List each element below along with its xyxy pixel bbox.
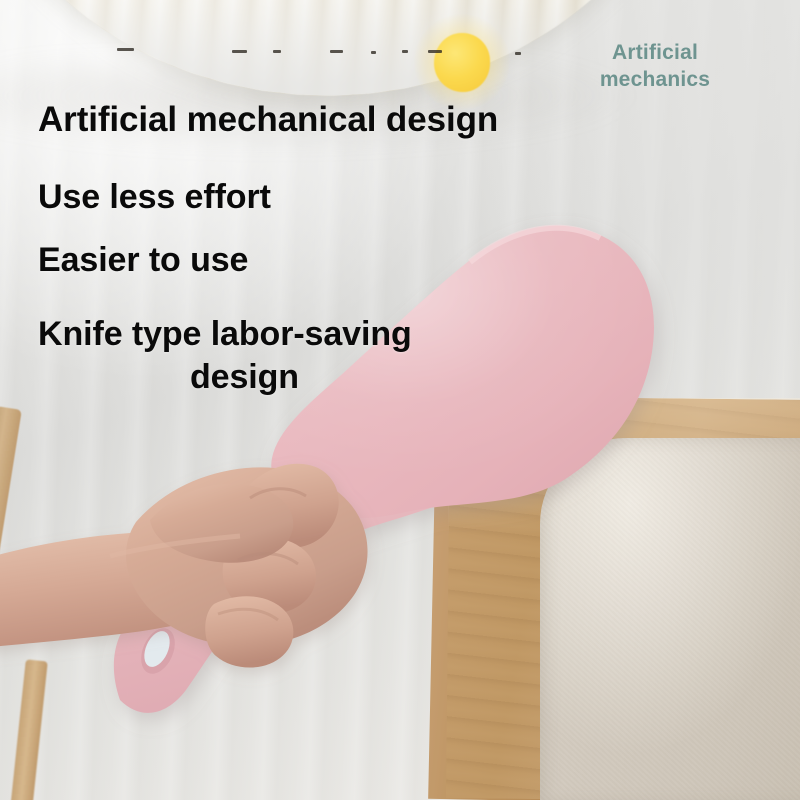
product-image-canvas: Artificial mechanical design Use less ef… — [0, 0, 800, 800]
tick-mark-1 — [117, 48, 134, 51]
tick-mark-8 — [515, 52, 521, 55]
tick-mark-3 — [273, 50, 281, 53]
headline-line-4a: Knife type labor-saving — [38, 315, 412, 354]
brand-watermark-line-2: mechanics — [560, 67, 750, 94]
light-bulb-glow-icon — [434, 33, 490, 92]
tick-mark-6 — [402, 50, 408, 53]
tick-mark-7 — [428, 50, 442, 53]
headline-line-3: Easier to use — [38, 241, 248, 280]
headline-line-4b: design — [190, 358, 299, 397]
tick-mark-2 — [232, 50, 247, 53]
chair-cushion-texture — [540, 438, 800, 800]
brand-watermark: Artificial mechanics — [560, 40, 750, 94]
tick-mark-4 — [330, 50, 343, 53]
brand-watermark-line-1: Artificial — [560, 40, 750, 67]
headline-line-2: Use less effort — [38, 178, 271, 217]
headline-line-1: Artificial mechanical design — [38, 100, 498, 140]
tick-mark-5 — [371, 51, 376, 54]
